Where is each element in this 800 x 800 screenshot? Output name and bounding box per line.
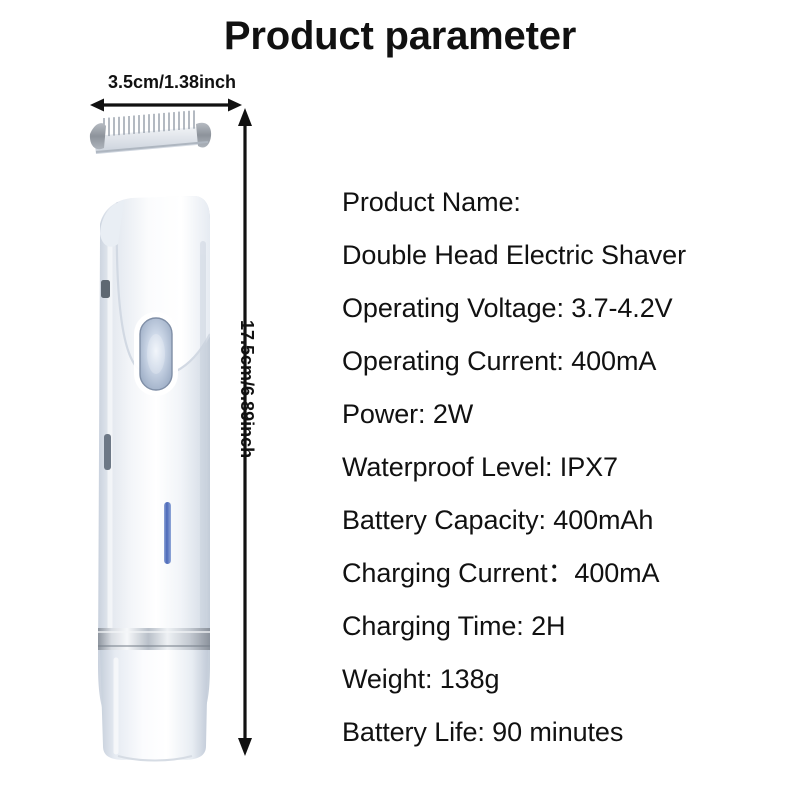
product-parameter-infographic: Product parameter 3.5cm/1.38inch 17.5cm/…	[0, 0, 800, 800]
blade-head-icon	[90, 110, 211, 154]
spec-line-charging-time: Charging Time: 2H	[342, 600, 792, 653]
width-dimension-label: 3.5cm/1.38inch	[72, 72, 272, 93]
spec-line-battery-life: Battery Life: 90 minutes	[342, 706, 792, 759]
specification-list: Product Name: Double Head Electric Shave…	[342, 176, 792, 759]
base-cap	[100, 650, 208, 761]
side-slot-icon	[101, 280, 110, 298]
spec-line-operating-current: Operating Current: 400mA	[342, 335, 792, 388]
page-title: Product parameter	[0, 14, 800, 58]
spec-line-battery-capacity: Battery Capacity: 400mAh	[342, 494, 792, 547]
power-button[interactable]	[134, 312, 178, 396]
product-image-electric-shaver	[70, 104, 230, 764]
spec-line-waterproof-level: Waterproof Level: IPX7	[342, 441, 792, 494]
spec-line-operating-voltage: Operating Voltage: 3.7-4.2V	[342, 282, 792, 335]
spec-line-charging-current: Charging Current：400mA	[342, 547, 792, 600]
left-indicator-strip-icon	[104, 434, 111, 470]
height-dimension-label: 17.5cm/6.89inch	[232, 318, 262, 558]
charge-led-indicator-icon	[164, 502, 171, 564]
spec-line-product-name-label: Product Name:	[342, 176, 792, 229]
chrome-ring	[98, 628, 210, 650]
spec-line-product-name-value: Double Head Electric Shaver	[342, 229, 792, 282]
spec-line-weight: Weight: 138g	[342, 653, 792, 706]
spec-line-power: Power: 2W	[342, 388, 792, 441]
